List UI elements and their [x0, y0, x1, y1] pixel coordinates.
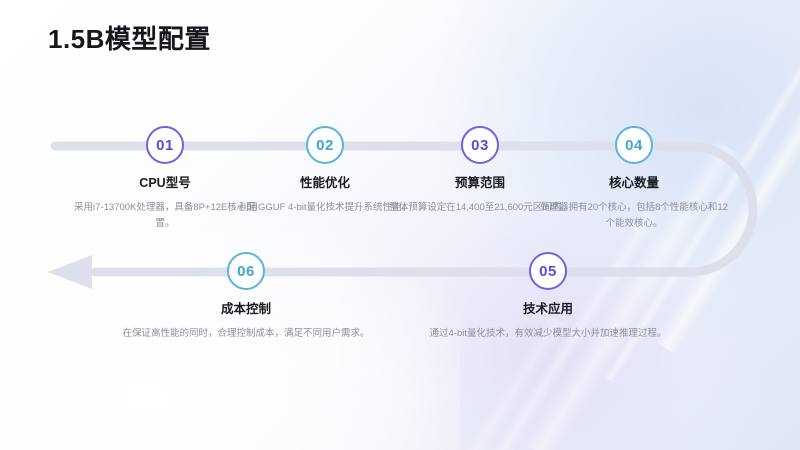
timeline-item-05[interactable]: 05 技术应用 通过4-bit量化技术，有效减少模型大小并加速推理过程。 [398, 252, 698, 342]
timeline-badge-05: 05 [529, 252, 567, 290]
timeline-desc-06: 在保证高性能的同时，合理控制成本，满足不同用户需求。 [96, 326, 396, 342]
timeline-desc-04: 处理器拥有20个核心，包括8个性能核心和12个能效核心。 [534, 200, 734, 231]
slide-canvas: 1.5B模型配置 01 CPU型号 采用i7-13700K处理器，具备8P+12… [0, 0, 800, 450]
timeline-badge-06: 06 [227, 252, 265, 290]
page-title: 1.5B模型配置 [48, 24, 211, 55]
timeline-number-04: 04 [625, 137, 643, 154]
timeline-number-06: 06 [237, 263, 255, 280]
timeline-item-04[interactable]: 04 核心数量 处理器拥有20个核心，包括8个性能核心和12个能效核心。 [534, 126, 734, 232]
timeline-number-03: 03 [471, 137, 489, 154]
timeline-title-06: 成本控制 [96, 301, 396, 317]
timeline-title-04: 核心数量 [534, 175, 734, 191]
timeline-number-02: 02 [316, 137, 334, 154]
timeline-item-06[interactable]: 06 成本控制 在保证高性能的同时，合理控制成本，满足不同用户需求。 [96, 252, 396, 342]
timeline-badge-02: 02 [306, 126, 344, 164]
timeline-badge-01: 01 [146, 126, 184, 164]
timeline-desc-05: 通过4-bit量化技术，有效减少模型大小并加速推理过程。 [398, 326, 698, 342]
timeline-number-01: 01 [156, 137, 174, 154]
timeline-badge-04: 04 [615, 126, 653, 164]
timeline-arrow-icon [48, 255, 92, 289]
timeline-badge-03: 03 [461, 126, 499, 164]
timeline-number-05: 05 [539, 263, 557, 280]
timeline-title-05: 技术应用 [398, 301, 698, 317]
